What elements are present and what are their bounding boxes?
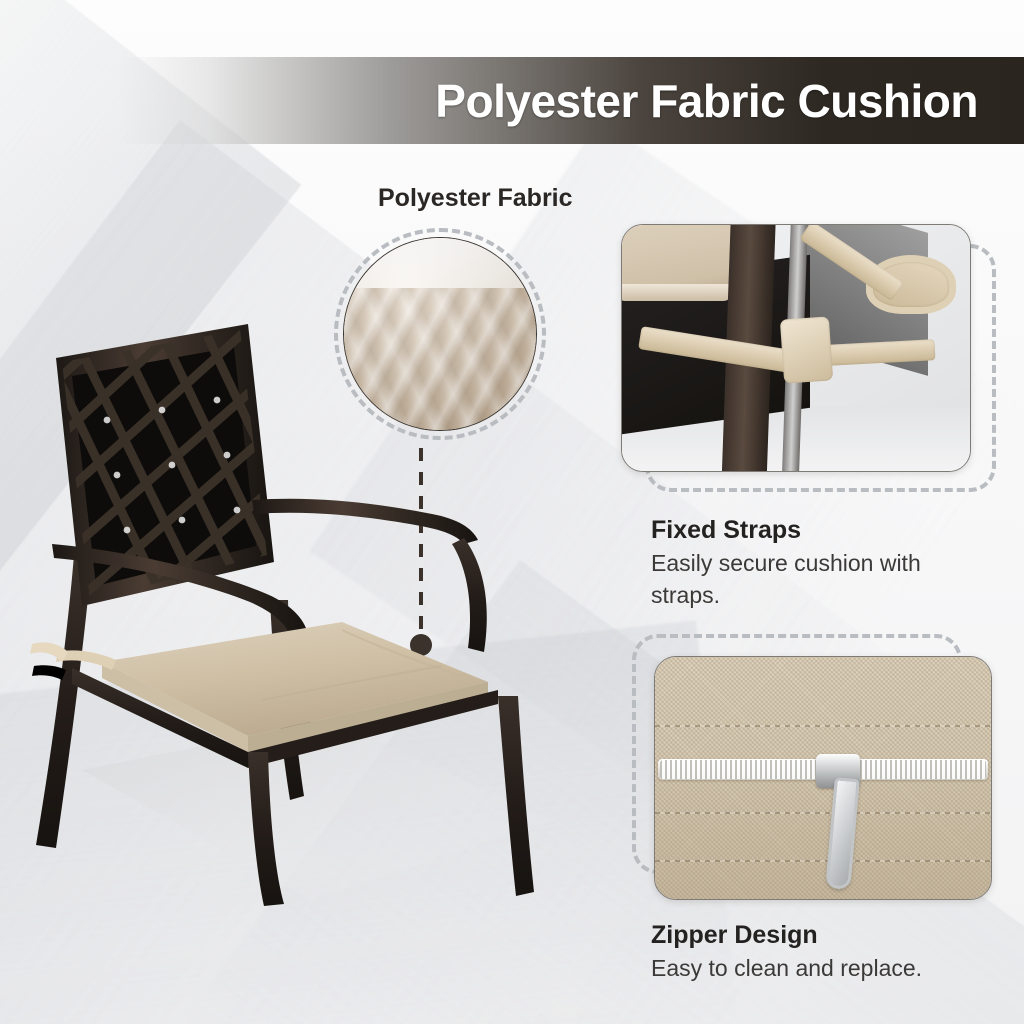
strap-knot: [780, 317, 833, 384]
header-banner: Polyester Fabric Cushion: [118, 57, 1024, 144]
fixed-straps-photo: [621, 224, 971, 472]
fabric-seam-middle: [655, 812, 991, 814]
feature-card-fixed-straps: [621, 224, 996, 492]
feature-description-fixed-straps: Easily secure cushion with straps.: [651, 548, 981, 611]
fabric-seam-top: [655, 725, 991, 727]
feature-title-fixed-straps: Fixed Straps: [651, 516, 801, 545]
zipper-photo: [654, 656, 992, 900]
feature-card-zipper-design: [632, 634, 1004, 906]
page-title: Polyester Fabric Cushion: [435, 74, 978, 128]
feature-title-zipper-design: Zipper Design: [651, 921, 818, 950]
product-chair-image: [12, 300, 592, 910]
infographic-canvas: Polyester Fabric Cushion Polyester Fabri…: [0, 0, 1024, 1024]
callout-label-polyester-fabric: Polyester Fabric: [378, 184, 573, 213]
feature-description-zipper-design: Easy to clean and replace.: [651, 953, 991, 985]
fabric-seam-bottom: [655, 860, 991, 862]
cushion-corner-edge: [621, 284, 733, 301]
